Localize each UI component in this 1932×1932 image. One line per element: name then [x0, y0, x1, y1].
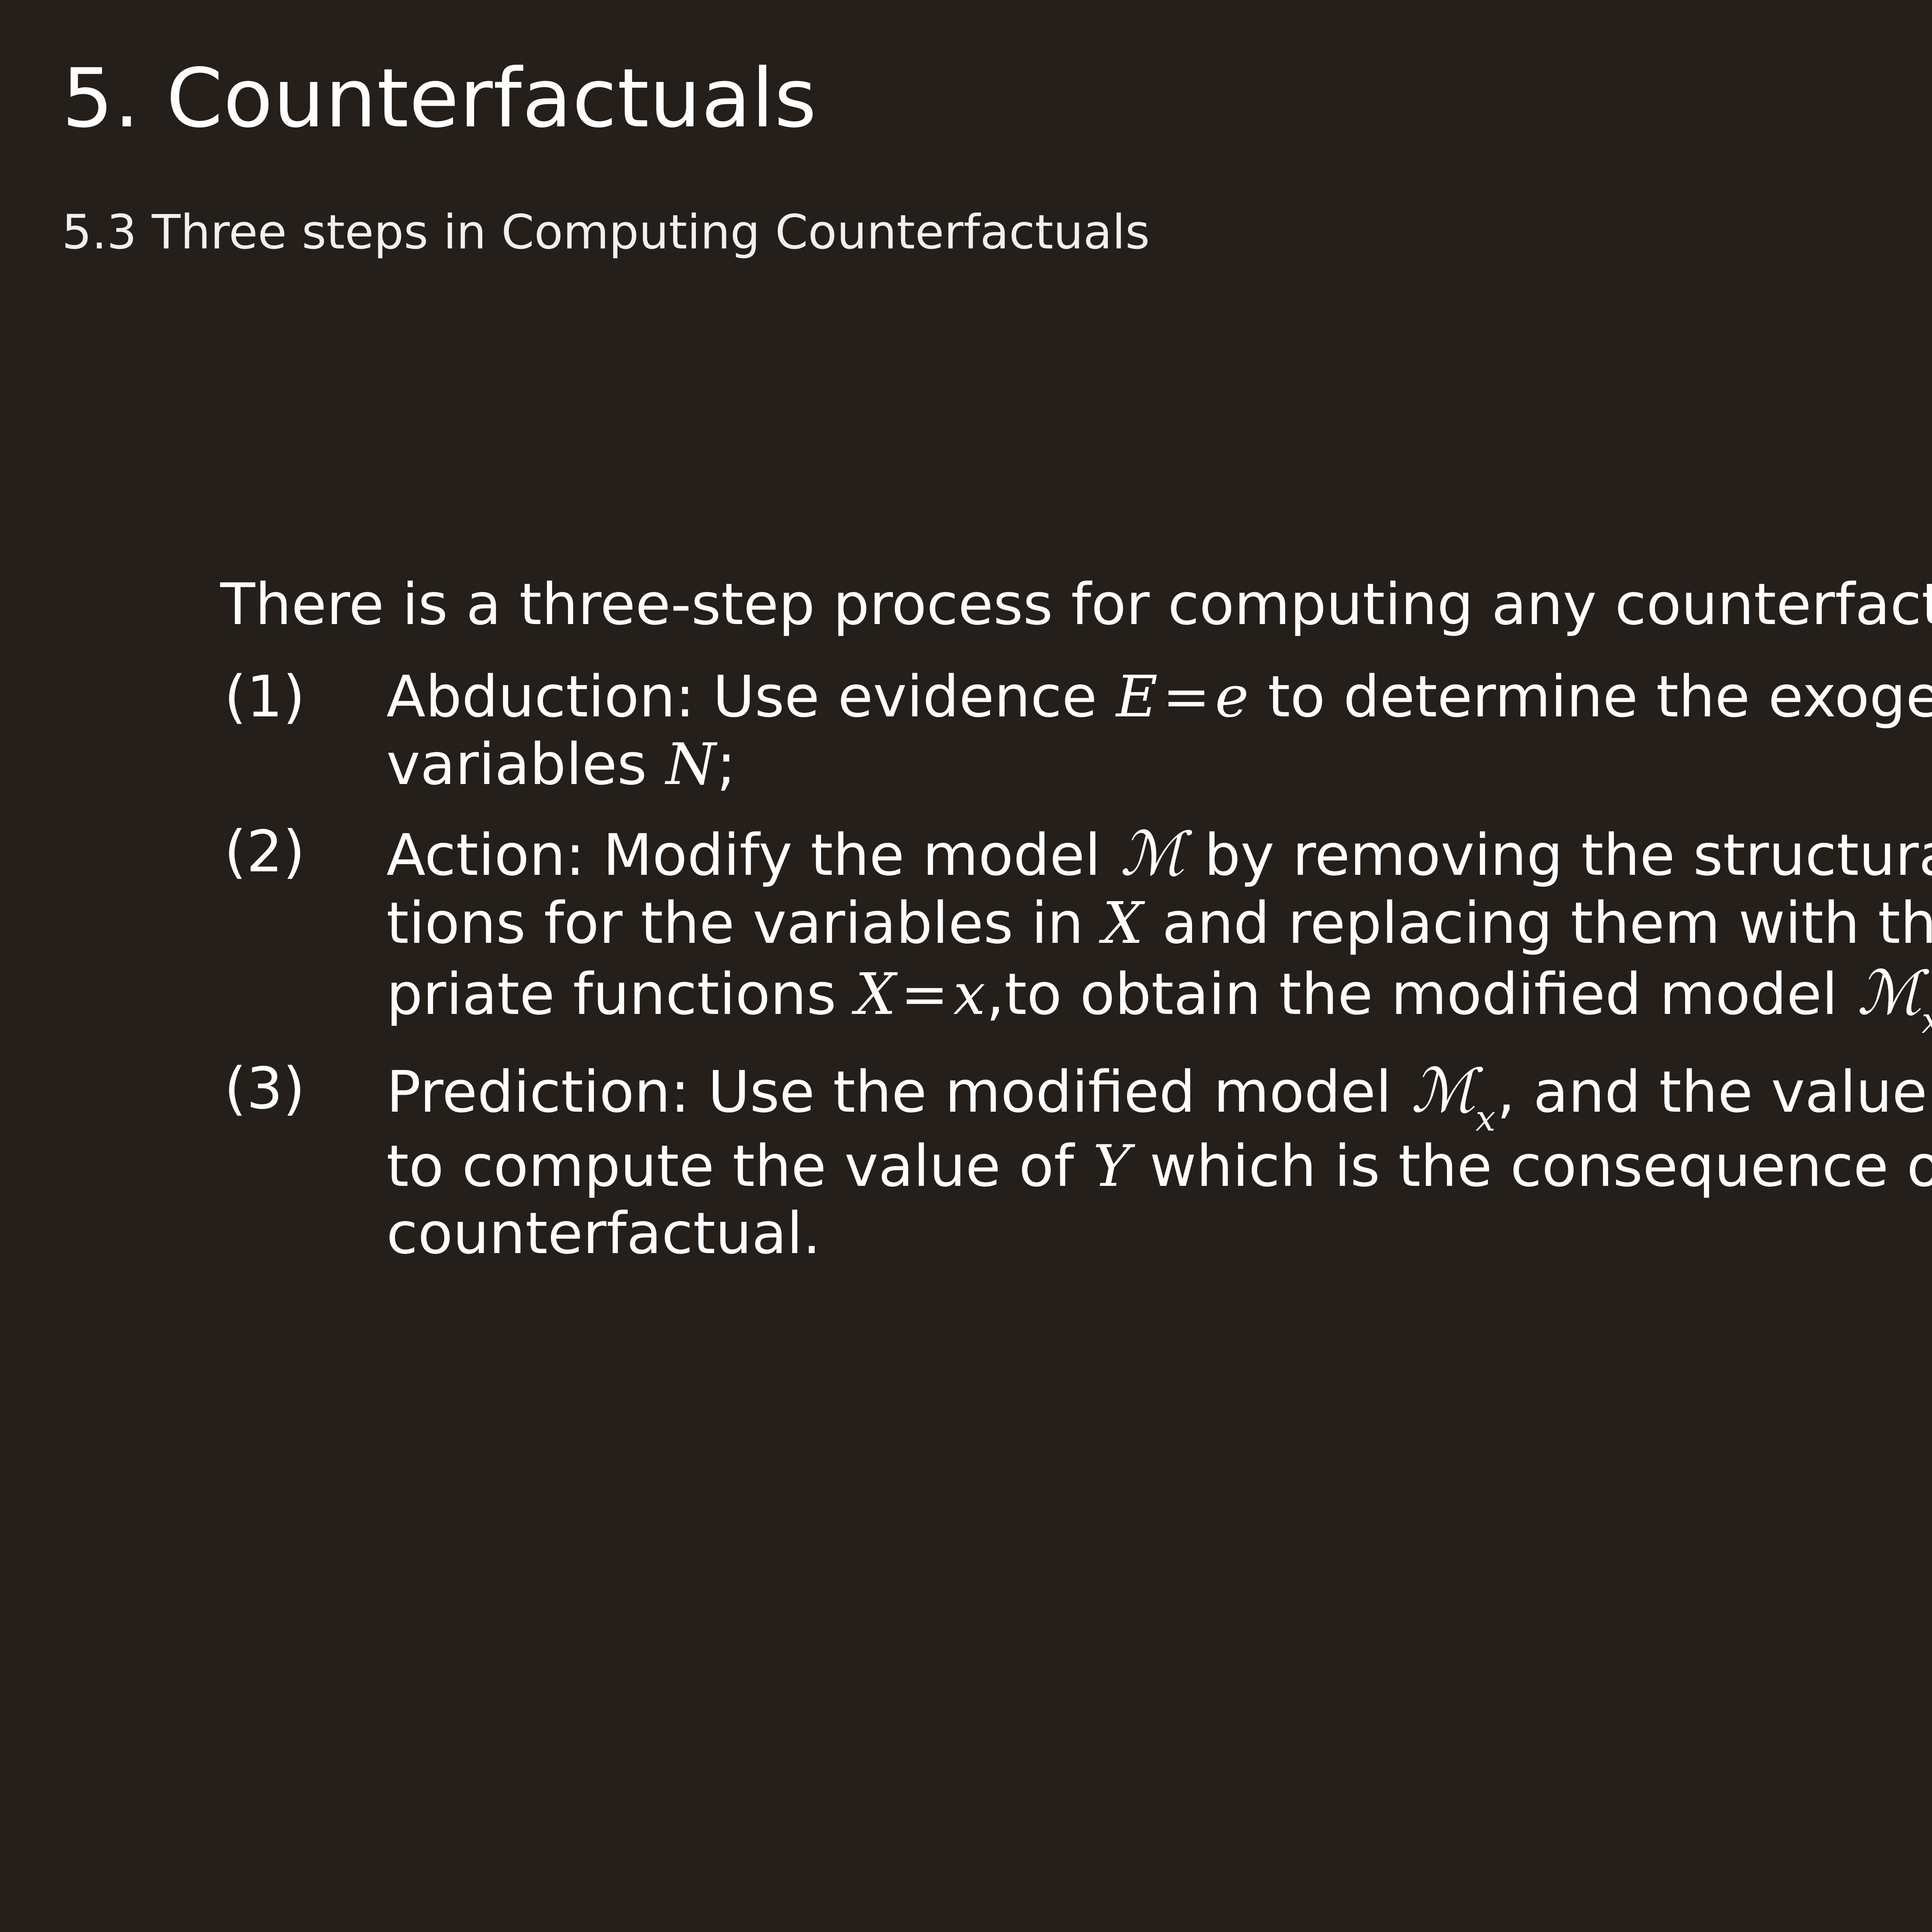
list-item-line: variables N;: [386, 731, 1932, 798]
list-item-line: to compute the value of Y which is the c…: [386, 1133, 1932, 1200]
list-item: (2)Action: Modify the model ℳ by removin…: [220, 818, 1932, 1035]
list-item-body: Prediction: Use the modified model ℳx, a…: [386, 1055, 1932, 1267]
list-item: (3)Prediction: Use the modified model ℳx…: [220, 1055, 1932, 1267]
list-item-line: tions for the variables in X and replaci…: [386, 889, 1932, 957]
slide-body: There is a three-step process for comput…: [220, 576, 1932, 1287]
page-title: 5. Counterfactuals: [62, 58, 817, 139]
list-item-line: priate functions X=x,to obtain the modif…: [386, 957, 1932, 1035]
list-item-line: counterfactual.: [386, 1200, 1932, 1267]
enumerated-list: (1)Abduction: Use evidence E=e to determ…: [220, 663, 1932, 1267]
list-item: (1)Abduction: Use evidence E=e to determ…: [220, 663, 1932, 798]
slide-subtitle: 5.3 Three steps in Computing Counterfact…: [62, 209, 1150, 256]
list-item-marker: (3): [220, 1055, 386, 1122]
list-item-marker: (2): [220, 818, 386, 886]
list-item-line: Abduction: Use evidence E=e to determine…: [386, 663, 1932, 731]
lead-paragraph: There is a three-step process for comput…: [220, 576, 1932, 633]
list-item-marker: (1): [220, 663, 386, 731]
list-item-line: Action: Modify the model ℳ by removing t…: [386, 818, 1932, 889]
list-item-body: Action: Modify the model ℳ by removing t…: [386, 818, 1932, 1035]
list-item-body: Abduction: Use evidence E=e to determine…: [386, 663, 1932, 798]
presentation-slide: 5. Counterfactuals 5.3 Three steps in Co…: [0, 0, 1932, 1932]
list-item-line: Prediction: Use the modified model ℳx, a…: [386, 1055, 1932, 1133]
